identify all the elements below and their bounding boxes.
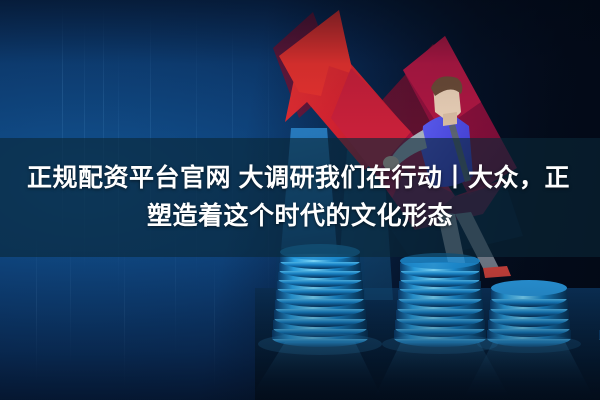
headline-line-1: 正规配资平台官网 大调研我们在行动丨大众，正 [0,163,570,195]
headline-line-2: 塑造着这个时代的文化形态 [147,201,453,233]
banner-image: 正规配资平台官网 大调研我们在行动丨大众，正 塑造着这个时代的文化形态 [0,0,600,400]
headline-block: 正规配资平台官网 大调研我们在行动丨大众，正 塑造着这个时代的文化形态 [0,138,600,257]
